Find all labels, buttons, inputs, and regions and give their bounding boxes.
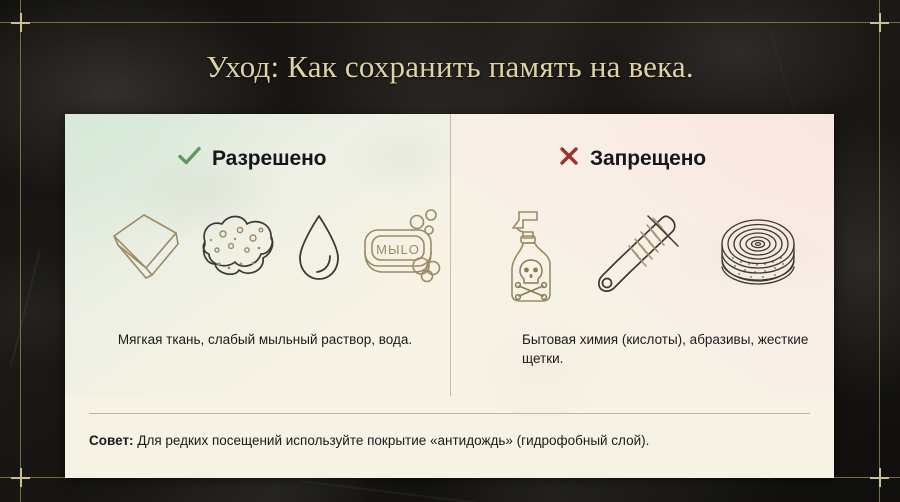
cloth-icon	[106, 206, 184, 290]
corner-crosshair-icon	[870, 468, 889, 487]
steel-wool-icon	[713, 206, 803, 306]
marble-vein	[10, 251, 40, 368]
soap-bar-label: МЫLO	[376, 242, 420, 257]
marble-vein	[300, 480, 499, 502]
tip-label: Совет:	[89, 433, 134, 448]
spray-bottle-poison-icon	[497, 206, 567, 306]
corner-crosshair-icon	[870, 13, 889, 32]
corner-crosshair-icon	[11, 468, 30, 487]
tip-text: Для редких посещений используйте покрыти…	[134, 433, 650, 448]
allowed-heading-label: Разрешено	[212, 147, 326, 171]
forbidden-heading-group: Запрещено	[559, 146, 706, 172]
allowed-icon-row: МЫLO	[100, 206, 450, 290]
check-mark-icon	[178, 146, 201, 172]
wire-brush-icon	[592, 206, 688, 306]
allowed-caption: Мягкая ткань, слабый мыльный раствор, во…	[95, 330, 435, 349]
water-drop-icon	[292, 206, 346, 290]
forbidden-heading-label: Запрещено	[590, 147, 706, 171]
tip-row: Совет: Для редких посещений используйте …	[89, 431, 819, 451]
cross-mark-icon	[559, 146, 579, 172]
comparison-card: Разрешено Запрещено	[65, 114, 834, 478]
corner-crosshair-icon	[11, 13, 30, 32]
forbidden-icon-row	[485, 206, 815, 306]
frame-line-top	[0, 22, 900, 23]
tip-divider	[89, 413, 810, 414]
forbidden-caption: Бытовая химия (кислоты), абразивы, жестк…	[522, 330, 822, 368]
allowed-heading-group: Разрешено	[178, 146, 326, 172]
page-title: Уход: Как сохранить память на века.	[0, 48, 900, 86]
soap-bar-icon: МЫLO	[357, 206, 445, 290]
column-divider	[450, 114, 451, 396]
slide-background: Уход: Как сохранить память на века. Разр…	[0, 0, 900, 502]
sponge-icon	[195, 206, 281, 290]
